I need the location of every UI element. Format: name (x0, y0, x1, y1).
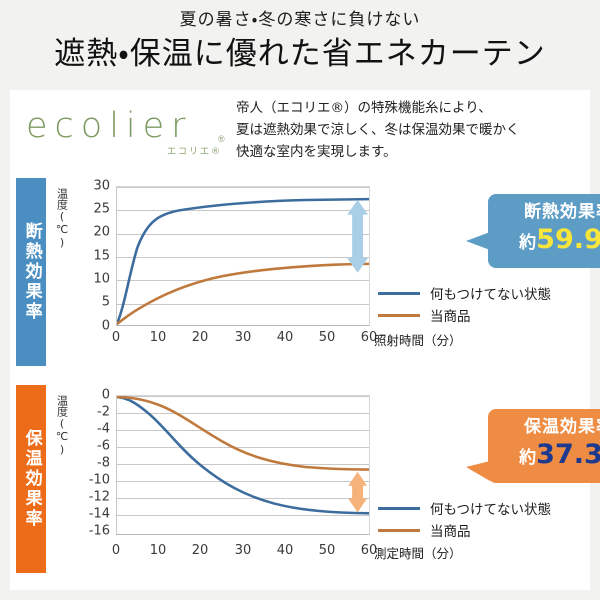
legend-item: 何もつけてない状態 (378, 282, 551, 304)
section-tab-insulation: 断熱効果率 (16, 178, 46, 366)
chart2-legend: 何もつけてない状態 当商品 (378, 497, 551, 541)
legend-label: 何もつけてない状態 (430, 283, 551, 303)
bubble-tail-icon (466, 232, 490, 250)
chart2-ytick: -4 (97, 422, 110, 437)
chart2-xtick: 50 (319, 543, 336, 558)
chart2-xtick: 20 (192, 543, 209, 558)
content-panel: ecolier ® エコリエ® 帝人（エコリエ®）の特殊機能糸により、 夏は遮熱… (10, 90, 590, 590)
chart-heat-retention: 温度(℃) 0 -2 -4 -6 -8 -10 -12 -14 -16 (56, 385, 590, 580)
insulation-rate-bubble: 断熱効果率 約59.9% (488, 194, 600, 268)
logo-kana-label: エコリエ® (167, 144, 222, 157)
chart1-callout-host: 断熱効果率 約59.9% 何もつけてない状態 当商品 (374, 178, 590, 373)
chart2-xtick: 0 (112, 543, 120, 558)
logo-wordmark: ecolier (26, 106, 193, 146)
heat-retention-rate-bubble: 保温効果率 約37.3% (488, 409, 600, 483)
bubble-title: 断熱効果率 (488, 203, 600, 222)
legend-line-icon (378, 314, 420, 317)
logo-registered-mark: ® (218, 134, 225, 144)
chart1-ytick: 20 (93, 225, 110, 240)
chart1-xtick: 30 (235, 330, 252, 345)
legend-label: 何もつけてない状態 (430, 498, 551, 518)
chart1-x-ticks: 0 10 20 30 40 50 60 (116, 330, 370, 348)
chart2-xtick: 30 (235, 543, 252, 558)
bubble-title: 保温効果率 (488, 418, 600, 437)
chart1-ytick: 25 (93, 202, 110, 217)
legend-line-icon (378, 507, 420, 510)
section-heat-retention: 保温効果率 温度(℃) 0 -2 -4 -6 -8 -10 -12 -14 -1… (10, 385, 590, 583)
chart1-plot-area (116, 186, 370, 326)
chart1-xtick: 50 (319, 330, 336, 345)
legend-line-icon (378, 529, 420, 532)
chart1-gap-arrow (347, 200, 368, 273)
chart2-plot-area (116, 395, 370, 535)
chart2-ytick: -16 (89, 524, 110, 539)
infographic-page: 夏の暑さ・冬の寒さに負けない 遮熱・保温に優れた省エネカーテン ecolier … (0, 0, 600, 600)
section-tab-heat-retention: 保温効果率 (16, 385, 46, 573)
legend-label: 当商品 (430, 520, 471, 540)
chart2-gap-arrow (348, 472, 367, 512)
bubble-number: 59.9 (536, 224, 600, 255)
bubble-prefix: 約 (519, 448, 536, 468)
chart1-legend: 何もつけてない状態 当商品 (378, 282, 551, 326)
chart1-xtick: 0 (112, 330, 120, 345)
legend-line-icon (378, 292, 420, 295)
brand-description-line1: 帝人（エコリエ®）の特殊機能糸により、 (236, 98, 586, 120)
chart2-ytick: -14 (89, 507, 110, 522)
chart2-ytick: -10 (89, 473, 110, 488)
legend-item: 当商品 (378, 519, 551, 541)
bubble-value: 約37.3% (488, 440, 600, 470)
chart1-xtick: 10 (150, 330, 167, 345)
chart1-y-ticks: 30 25 20 15 10 5 0 (72, 178, 110, 373)
chart1-ytick: 5 (102, 295, 110, 310)
chart2-y-axis-label: 温度(℃) (56, 395, 68, 456)
chart1-ytick: 30 (93, 179, 110, 194)
legend-item: 当商品 (378, 304, 551, 326)
ecolier-logo: ecolier ® エコリエ® (22, 100, 232, 158)
chart1-y-axis-label: 温度(℃) (56, 188, 68, 249)
chart2-xtick: 10 (150, 543, 167, 558)
chart1-xtick: 20 (192, 330, 209, 345)
section-insulation: 断熱効果率 温度(℃) 30 25 20 15 10 5 0 (10, 178, 590, 376)
brand-description-line2: 夏は遮熱効果で涼しく、冬は保温効果で暖かく (236, 120, 586, 142)
brand-description: 帝人（エコリエ®）の特殊機能糸により、 夏は遮熱効果で涼しく、冬は保温効果で暖か… (236, 98, 586, 164)
chart-insulation: 温度(℃) 30 25 20 15 10 5 0 (56, 178, 590, 373)
legend-item: 何もつけてない状態 (378, 497, 551, 519)
page-header: 夏の暑さ・冬の寒さに負けない 遮熱・保温に優れた省エネカーテン (0, 0, 600, 88)
bubble-value: 約59.9% (488, 225, 600, 255)
chart2-ytick: -2 (97, 405, 110, 420)
chart2-ytick: -6 (97, 439, 110, 454)
bubble-prefix: 約 (519, 233, 536, 253)
brand-description-line3: 快適な室内を実現します。 (236, 142, 586, 164)
legend-label: 当商品 (430, 305, 471, 325)
bubble-number: 37.3 (536, 439, 600, 470)
brand-row: ecolier ® エコリエ® 帝人（エコリエ®）の特殊機能糸により、 夏は遮熱… (10, 90, 590, 168)
chart2-ytick: -8 (97, 456, 110, 471)
chart1-xtick: 40 (277, 330, 294, 345)
chart1-series-svg (117, 187, 369, 325)
page-title: 遮熱・保温に優れた省エネカーテン (54, 35, 546, 74)
chart2-x-ticks: 0 10 20 30 40 50 60 (116, 543, 370, 561)
chart1-ytick: 0 (102, 319, 110, 334)
chart2-ytick: 0 (102, 388, 110, 403)
chart2-xtick: 40 (277, 543, 294, 558)
chart1-ytick: 15 (93, 249, 110, 264)
chart2-series-svg (117, 396, 369, 534)
chart2-ytick: -12 (89, 490, 110, 505)
chart1-ytick: 10 (93, 272, 110, 287)
bubble-tail-icon (466, 461, 490, 481)
chart2-y-ticks: 0 -2 -4 -6 -8 -10 -12 -14 -16 (72, 385, 110, 580)
header-subtitle: 夏の暑さ・冬の寒さに負けない (180, 10, 421, 30)
chart2-callout-host: 保温効果率 約37.3% 何もつけてない状態 当商品 (374, 385, 590, 580)
